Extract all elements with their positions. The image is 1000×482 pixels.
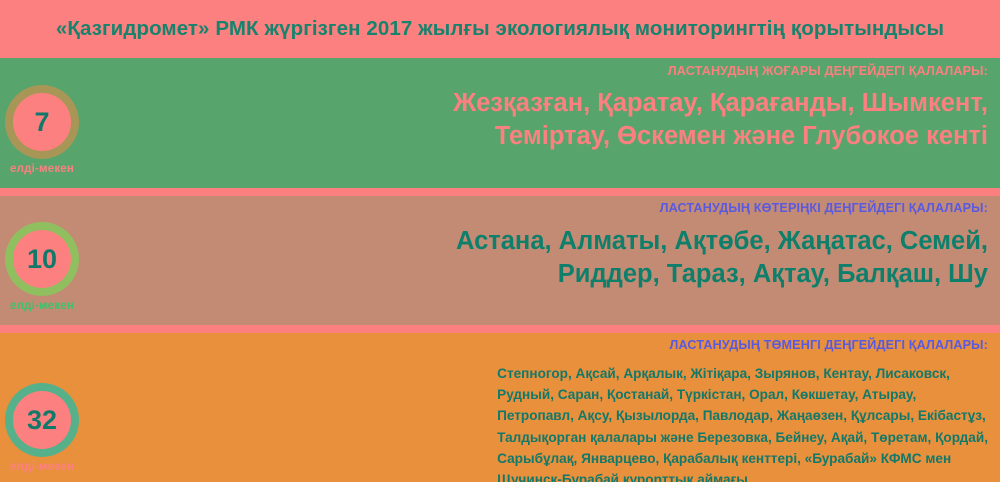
badge-ring-high: 7 (5, 85, 79, 159)
section-low-cities-line-5: Сарыбұлақ, Январцево, Қарабалық кенттері… (497, 448, 988, 469)
section-low-cities-line-4: Талдықорган қалалары және Березовка, Бей… (497, 427, 988, 448)
section-low-cities: Степногор, Ақсай, Арқалык, Жітіқара, Зыр… (497, 363, 988, 482)
badge-mid-count: 10 елді-мекен (0, 222, 88, 312)
infographic-poster: «Қазгидромет» РМК жүргізген 2017 жылғы э… (0, 0, 1000, 482)
page-title: «Қазгидромет» РМК жүргізген 2017 жылғы э… (56, 17, 944, 41)
poster-title-bar: «Қазгидромет» РМК жүргізген 2017 жылғы э… (0, 0, 1000, 58)
section-low-cities-line-3: Петропавл, Ақсу, Қызылорда, Павлодар, Жа… (497, 405, 988, 426)
badge-value-low: 32 (13, 391, 71, 449)
section-mid-text: ЛАСТАНУДЫҢ КӨТЕРІҢКІ ДЕҢГЕЙДЕГІ ҚАЛАЛАРЫ… (456, 201, 988, 291)
section-low-cities-line-6: Щучинск-Бурабай курорттық аймағы (497, 469, 988, 482)
section-mid-heading: ЛАСТАНУДЫҢ КӨТЕРІҢКІ ДЕҢГЕЙДЕГІ ҚАЛАЛАРЫ… (456, 201, 988, 215)
section-high-heading: ЛАСТАНУДЫҢ ЖОҒАРЫ ДЕҢГЕЙДЕГІ ҚАЛАЛАРЫ: (453, 64, 988, 78)
section-low-text: ЛАСТАНУДЫҢ ТӨМЕНГІ ДЕҢГЕЙДЕГІ ҚАЛАЛАРЫ: … (497, 338, 988, 482)
section-low-heading: ЛАСТАНУДЫҢ ТӨМЕНГІ ДЕҢГЕЙДЕГІ ҚАЛАЛАРЫ: (497, 338, 988, 352)
badge-label-high: елді-мекен (0, 163, 88, 175)
section-mid-cities-line-2: Риддер, Тараз, Ақтау, Балқаш, Шу (456, 258, 988, 291)
badge-ring-low: 32 (5, 383, 79, 457)
section-low-cities-line-1: Степногор, Ақсай, Арқалык, Жітіқара, Зыр… (497, 363, 988, 384)
divider-high-mid (0, 188, 1000, 196)
section-high-cities-line-1: Жезқазған, Қаратау, Қарағанды, Шымкент, (453, 87, 988, 120)
section-mid-cities: Астана, Алматы, Ақтөбе, Жаңатас, Семей, … (456, 225, 988, 291)
section-mid-cities-line-1: Астана, Алматы, Ақтөбе, Жаңатас, Семей, (456, 225, 988, 258)
section-high-text: ЛАСТАНУДЫҢ ЖОҒАРЫ ДЕҢГЕЙДЕГІ ҚАЛАЛАРЫ: Ж… (453, 64, 988, 153)
divider-mid-low (0, 325, 1000, 333)
section-low-cities-line-2: Рудный, Саран, Қостанай, Түркістан, Орал… (497, 384, 988, 405)
badge-high-count: 7 елді-мекен (0, 85, 88, 175)
badge-ring-mid: 10 (5, 222, 79, 296)
section-high-cities: Жезқазған, Қаратау, Қарағанды, Шымкент, … (453, 87, 988, 153)
badge-value-high: 7 (13, 93, 71, 151)
section-high-cities-line-2: Теміртау, Өскемен және Глубокое кенті (453, 120, 988, 153)
badge-label-mid: елді-мекен (0, 300, 88, 312)
badge-label-low: елді-мекен (0, 461, 88, 473)
badge-value-mid: 10 (13, 230, 71, 288)
badge-low-count: 32 елді-мекен (0, 383, 88, 473)
